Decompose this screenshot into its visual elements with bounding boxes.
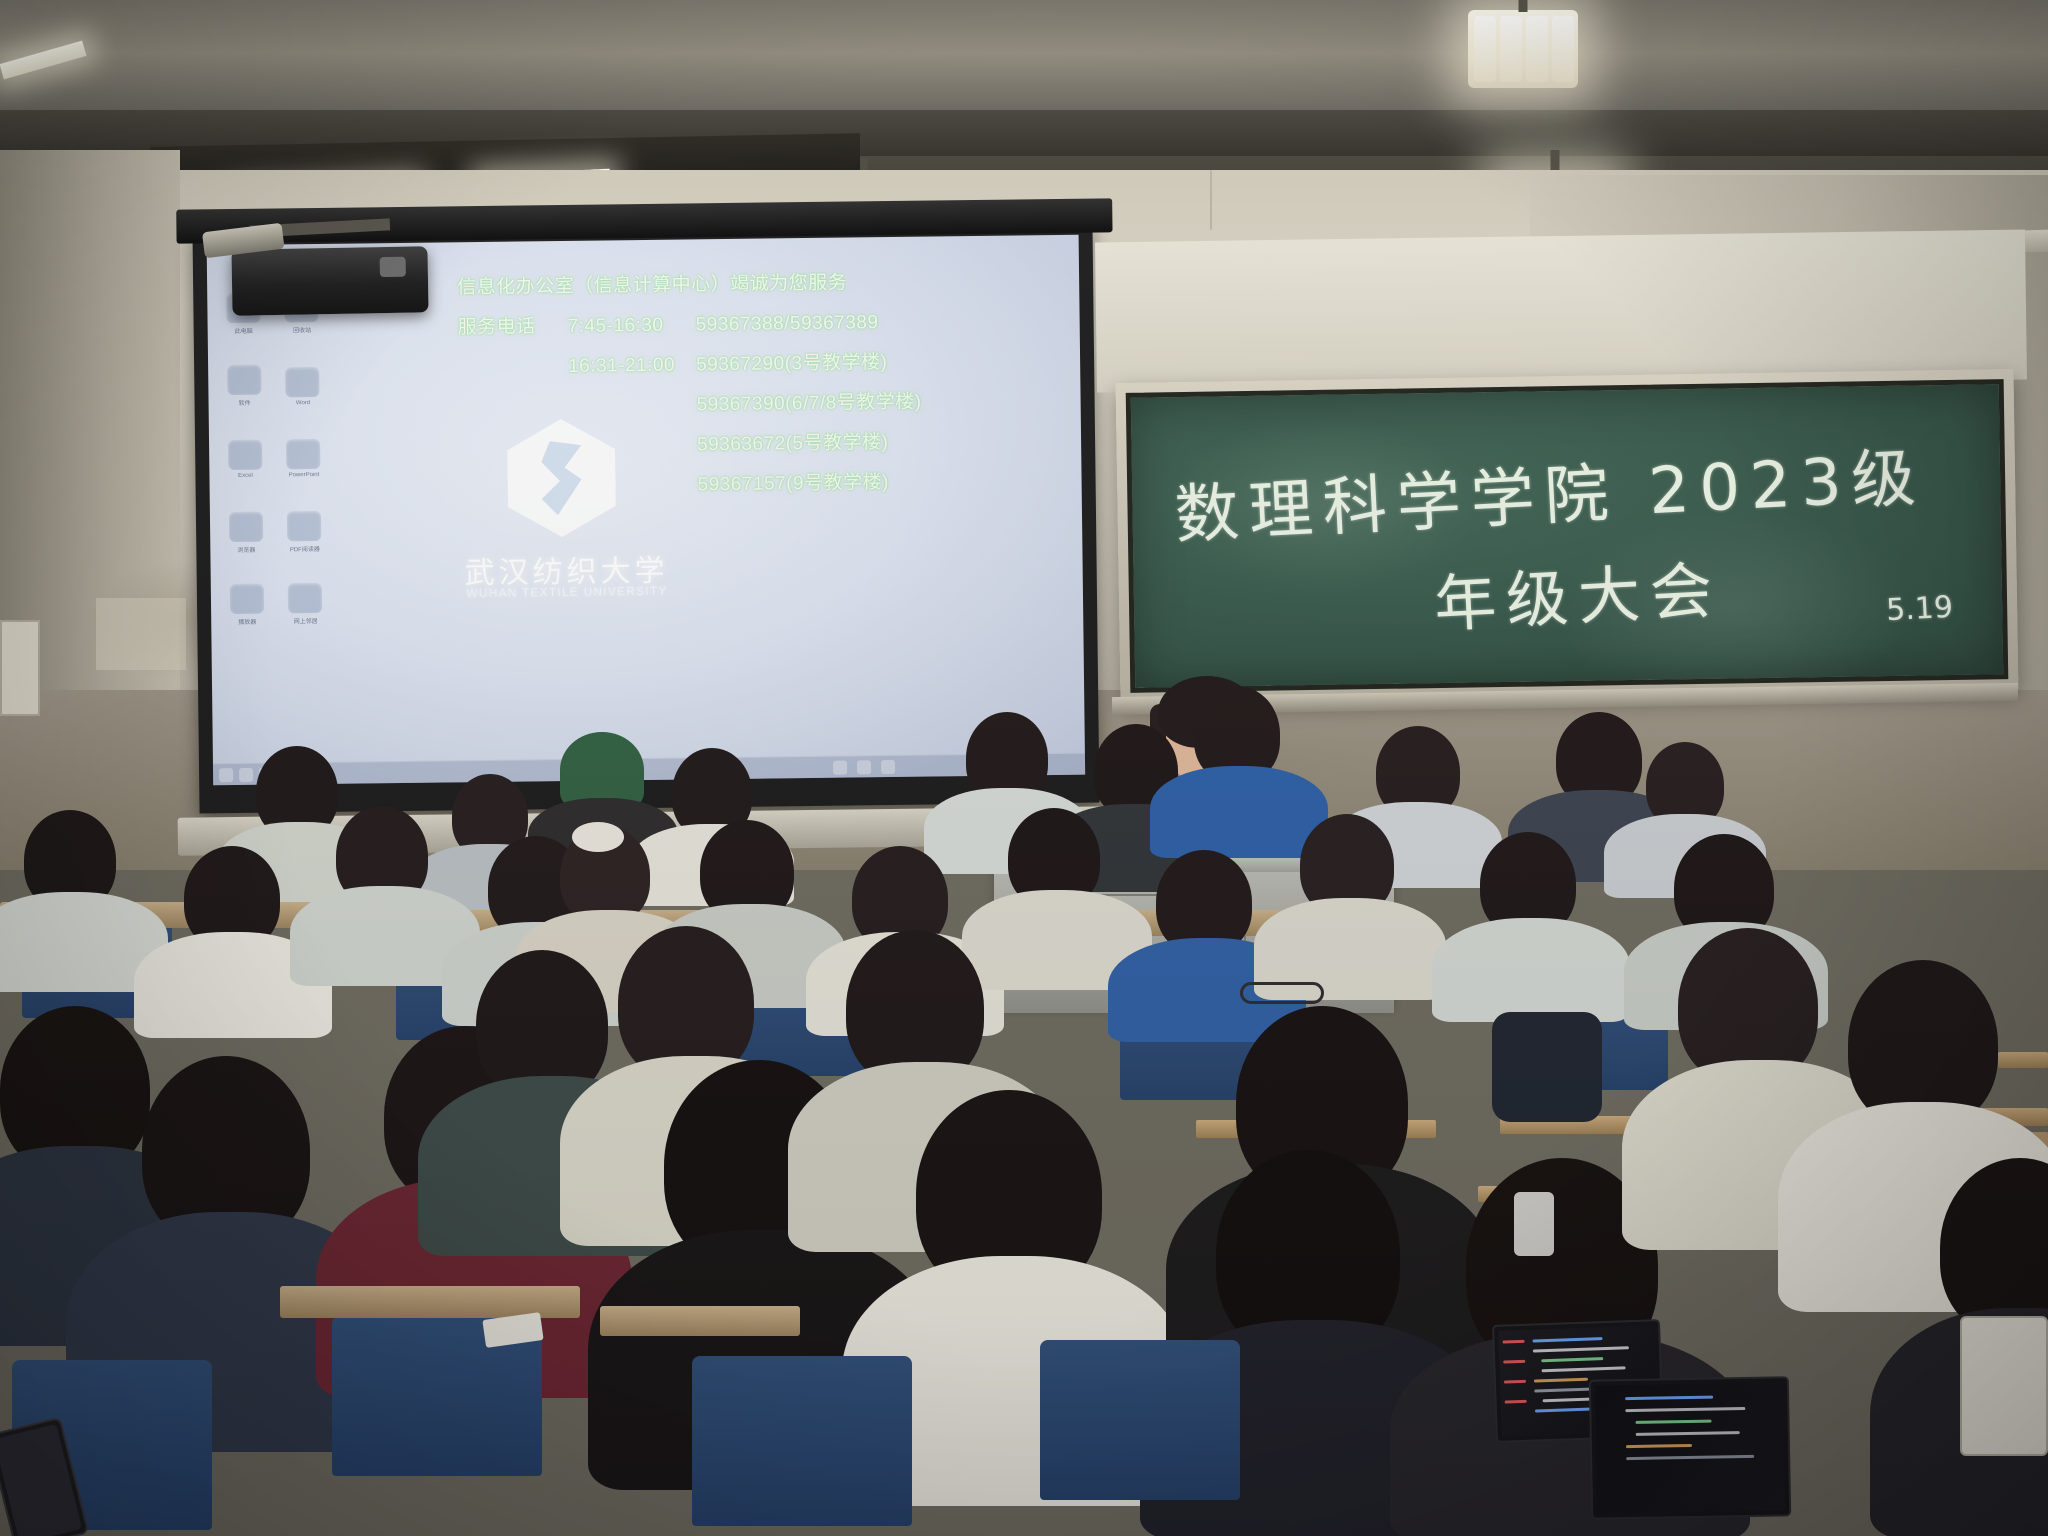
network-icon: 网上邻居 [281,583,330,640]
hair-clip-icon [572,822,624,852]
laptop-screen [1595,1382,1785,1513]
university-logo-icon [507,418,616,537]
slide-phone-label [459,412,569,413]
open-laptop[interactable] [1589,1376,1791,1519]
wall-poster [96,598,186,670]
slide-phone-number: 59363672(5号教学楼) [697,432,889,455]
chalkboard-line-2: 年级大会 [1432,540,1724,644]
ppt-icon: PowerPoint [279,439,328,496]
folder-icon: 软件 [220,365,269,422]
ceiling-slab [0,0,2048,118]
desk-row [600,1306,800,1336]
browser-icon: 浏览器 [222,512,271,569]
word-icon: Word [279,367,328,424]
water-bottle [1514,1192,1554,1256]
audience-shoulder [1150,766,1328,858]
ceiling-lamp [1468,10,1578,88]
ceiling-wire [1210,170,1212,230]
chalkboard: 数理科学学院 2023级 年级大会 5.19 [1116,369,2019,703]
desktop-icon-column: 此电脑 回收站 软件 Word Excel [213,292,337,656]
ceiling-projector [231,246,428,315]
upper-wall-panel [1095,230,2027,393]
excel-icon: Excel [221,440,270,497]
chair-back [1040,1340,1240,1500]
media-icon: 播放器 [223,584,272,641]
slide-phone-time: 16:31-21:00 [568,345,696,387]
screen-surface: 此电脑 回收站 软件 Word Excel [207,235,1086,786]
slide-phone-number: 59367157(9号教学楼) [697,472,889,495]
pdf-icon: PDF阅读器 [280,511,329,568]
chair-back [692,1356,912,1526]
audience-head-with-cap [560,732,644,808]
tablet-device[interactable] [1960,1316,2048,1456]
university-name-en: WUHAN TEXTILE UNIVERSITY [447,584,687,601]
chalkboard-date: 5.19 [1885,590,1953,628]
lecture-hall-photo: 此电脑 回收站 软件 Word Excel [0,0,2048,1536]
audience-shoulder [1432,918,1630,1022]
slide-phone-label: 服务电话 [457,307,567,348]
slide-phone-time: 7:45-16:30 [567,305,695,347]
chalkboard-surface: 数理科学学院 2023级 年级大会 5.19 [1126,379,2009,693]
slide-phone-time [569,410,697,412]
slide-phone-number: 59367290(3号教学楼) [696,352,888,375]
eyeglasses-icon [1240,982,1324,1004]
projector-lens-icon [380,257,406,277]
slide-phone-label [458,372,568,373]
slide-phone-number: 59367388/59367389 [696,312,879,335]
backpack [1492,1012,1602,1122]
slide-phone-number: 59367390(6/7/8号教学楼) [696,392,921,416]
wall-notice [0,620,40,716]
